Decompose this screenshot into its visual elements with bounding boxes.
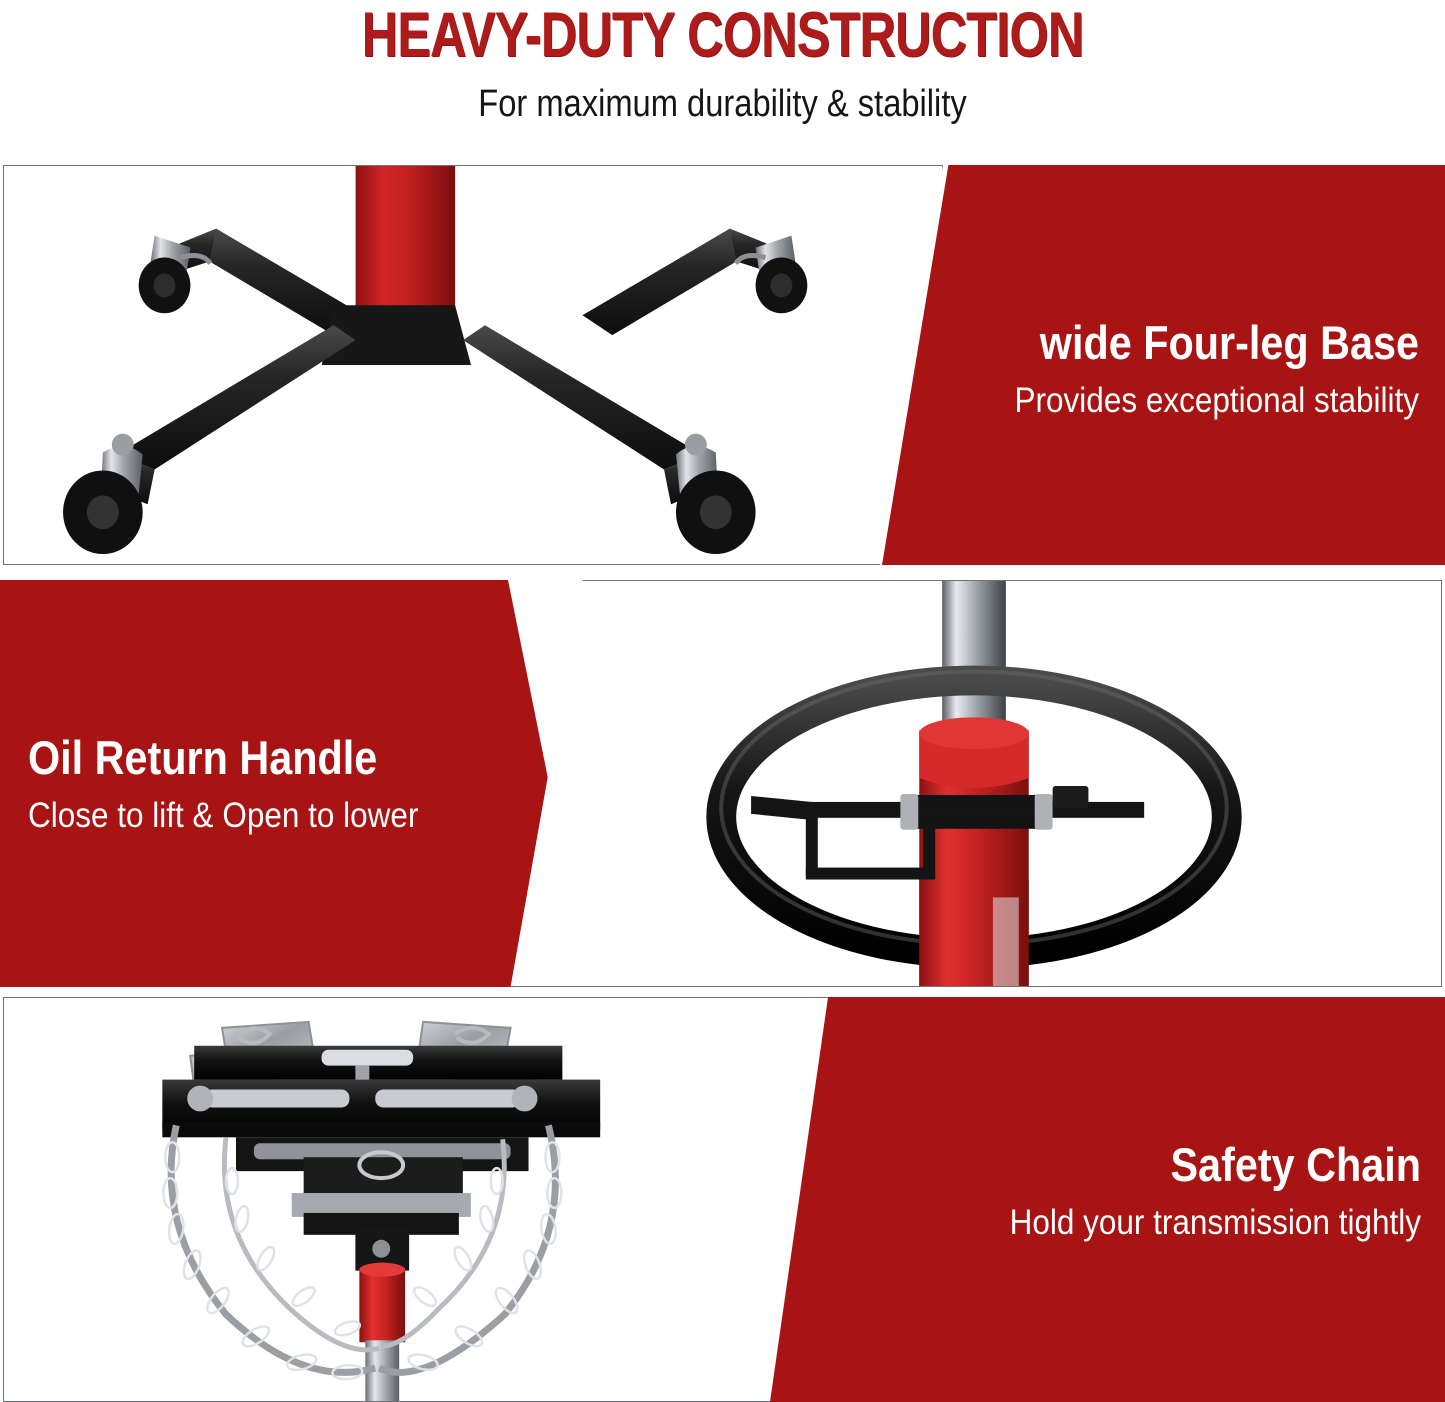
four-leg-base-caption-panel: wide Four-leg Base Provides exceptional …: [882, 165, 1445, 565]
page-title: HEAVY-DUTY CONSTRUCTION: [145, 2, 1301, 68]
feature-title-four-leg-base: wide Four-leg Base: [997, 315, 1419, 371]
feature-row-oil-return-handle: Oil Return Handle Close to lift & Open t…: [0, 580, 1445, 987]
oil-return-handle-photo: [506, 581, 1441, 986]
oil-return-handle-caption: Oil Return Handle Close to lift & Open t…: [28, 730, 478, 837]
safety-chain-photo-frame: [3, 997, 863, 1402]
feature-row-four-leg-base: wide Four-leg Base Provides exceptional …: [0, 165, 1445, 565]
page-subtitle: For maximum durability & stability: [101, 82, 1344, 126]
oil-return-handle-caption-panel: Oil Return Handle Close to lift & Open t…: [0, 580, 590, 987]
four-leg-base-caption: wide Four-leg Base Provides exceptional …: [939, 315, 1419, 422]
feature-subtitle-safety-chain: Hold your transmission tightly: [917, 1201, 1421, 1244]
four-leg-base-photo: [4, 166, 942, 564]
feature-title-oil-return-handle: Oil Return Handle: [28, 730, 424, 786]
four-leg-base-photo-frame: [3, 165, 943, 565]
header-banner: HEAVY-DUTY CONSTRUCTION For maximum dura…: [0, 0, 1445, 150]
feature-title-safety-chain: Safety Chain: [928, 1137, 1421, 1193]
feature-subtitle-oil-return-handle: Close to lift & Open to lower: [28, 794, 433, 837]
safety-chain-caption-panel: Safety Chain Hold your transmission tigh…: [770, 997, 1445, 1402]
safety-chain-photo: [4, 998, 862, 1401]
feature-subtitle-four-leg-base: Provides exceptional stability: [987, 379, 1419, 422]
oil-return-handle-photo-frame: [505, 580, 1442, 987]
safety-chain-caption: Safety Chain Hold your transmission tigh…: [861, 1137, 1421, 1244]
feature-row-safety-chain: Safety Chain Hold your transmission tigh…: [0, 997, 1445, 1402]
